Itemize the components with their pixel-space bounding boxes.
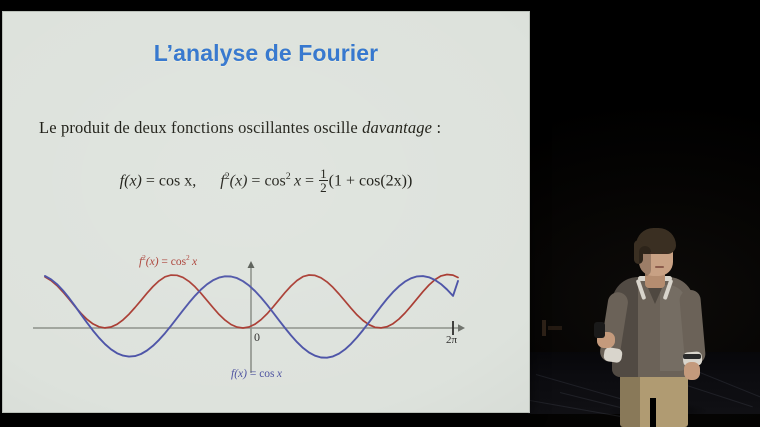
formula-cos-x: cos x <box>159 173 192 190</box>
presenter-face-shadow <box>639 246 651 276</box>
presenter-watch <box>683 354 701 359</box>
series-label-cos: f(x) = cos x <box>231 368 282 380</box>
formula-one: 1 <box>334 173 342 190</box>
slide-body-text: Le produit de deux fonctions oscillantes… <box>39 118 499 138</box>
formula-paren-close: ) <box>407 173 412 190</box>
series-label-cos-squared: f2(x) = cos2 x <box>139 254 197 268</box>
body-text-pre: Le produit de deux fonctions oscillantes… <box>39 118 362 137</box>
formula-comma: , <box>192 173 196 190</box>
stage-equipment <box>548 326 562 330</box>
formula-cos2-var: x <box>294 173 301 190</box>
formula-f2-arg: (x) <box>230 173 248 190</box>
presenter-cuff-left <box>603 347 623 364</box>
fraction-numerator: 1 <box>319 167 328 181</box>
presenter-mouth <box>655 266 664 268</box>
presenter-eye-right <box>662 252 667 254</box>
stage-equipment <box>542 320 546 336</box>
body-text-post: : <box>432 118 441 137</box>
formula-cos2-base: cos <box>264 173 285 190</box>
formula-plus: + <box>346 173 355 190</box>
body-text-emphasis: davantage <box>362 118 432 137</box>
presenter-clicker <box>594 322 605 338</box>
video-frame: L’analyse de Fourier Le produit de deux … <box>0 0 760 427</box>
presenter-pants-shade <box>620 370 640 427</box>
y-axis-arrow-icon <box>248 261 255 268</box>
formula-equals: = <box>146 173 155 190</box>
formula-equals-3: = <box>305 173 314 190</box>
formula-cos-2x: cos(2x) <box>359 173 407 190</box>
formula-equals-2: = <box>251 173 260 190</box>
math-formula: f(x) = cos x, f2(x) = cos2 x = 12(1 + co… <box>3 167 529 195</box>
x-axis-arrow-icon <box>458 324 465 332</box>
fraction-denominator: 2 <box>319 181 328 194</box>
presenter-hand-right <box>684 362 700 380</box>
formula-fraction-one-half: 12 <box>319 167 328 195</box>
formula-cos2-exponent: 2 <box>286 171 291 182</box>
function-plot: f2(x) = cos2 x f(x) = cos x 0 2π <box>3 242 529 402</box>
formula-f-arg: (x) <box>124 173 142 190</box>
projected-slide: L’analyse de Fourier Le produit de deux … <box>3 12 529 412</box>
presenter-leg-gap <box>650 398 656 427</box>
x-tick-label-zero: 0 <box>254 330 260 345</box>
presenter-eye-left <box>650 252 655 254</box>
x-tick-label-two-pi: 2π <box>446 334 457 346</box>
page-title: L’analyse de Fourier <box>3 40 529 67</box>
